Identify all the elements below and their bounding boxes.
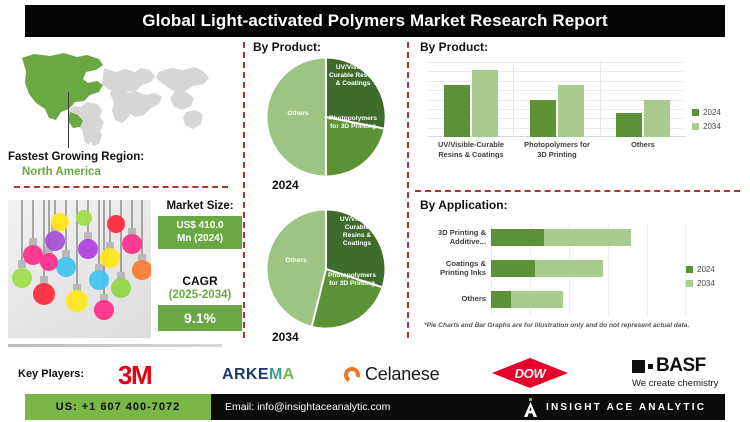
bar-group-photopolymers xyxy=(514,62,600,137)
divider-left-horizontal xyxy=(14,186,228,188)
footer-email[interactable]: Email: info@insightaceanalytic.com xyxy=(211,394,511,420)
legend-item-2024: 2024 xyxy=(692,108,721,117)
cagr-period: (2025-2034) xyxy=(150,289,250,301)
application-category-others: Others xyxy=(419,294,491,304)
app-legend-swatch-2034 xyxy=(686,280,693,287)
arkema-part-3: A xyxy=(283,366,295,383)
fastest-region-label: Fastest Growing Region: xyxy=(8,150,223,164)
legend-item-2034: 2034 xyxy=(692,122,721,131)
pie-chart-2034 xyxy=(265,208,387,330)
key-players-label: Key Players: xyxy=(18,368,84,380)
pie-2024-year: 2024 xyxy=(272,178,299,192)
legend-swatch-2024 xyxy=(692,109,699,116)
bar-group-uv xyxy=(428,62,514,137)
divider-vertical-1 xyxy=(243,42,245,338)
application-bar-coatings xyxy=(491,260,603,277)
celanese-wordmark: Celanese xyxy=(365,364,439,385)
logo-celanese: Celanese xyxy=(344,364,439,385)
footer-phone-text: US: +1 607 400-7072 xyxy=(56,401,181,413)
world-map-icon xyxy=(8,42,230,150)
app-legend-label-2024: 2024 xyxy=(697,265,715,274)
celanese-mark-icon xyxy=(344,367,360,383)
footer-brand-text: INSIGHT ACE ANALYTIC xyxy=(546,402,706,413)
divider-right-horizontal xyxy=(415,190,740,192)
application-seg-others-2034 xyxy=(511,291,563,308)
application-bar-others xyxy=(491,291,563,308)
footer-phone[interactable]: US: +1 607 400-7072 xyxy=(25,394,211,420)
product-bar-legend: 2024 2034 xyxy=(692,108,721,131)
logo-dow: DOW xyxy=(492,358,568,388)
market-size-value: US$ 410.0 xyxy=(176,220,223,232)
application-seg-coatings-2024 xyxy=(491,260,535,277)
application-section-title: By Application: xyxy=(420,198,508,212)
bar-uv-2034 xyxy=(472,70,498,138)
arkema-part-2: M xyxy=(269,366,283,383)
lightbulbs-illustration xyxy=(8,200,151,338)
legend-swatch-2034 xyxy=(692,123,699,130)
legend-label-2034: 2034 xyxy=(703,122,721,131)
market-size-title: Market Size: xyxy=(156,200,244,212)
app-legend-swatch-2024 xyxy=(686,266,693,273)
divider-vertical-2 xyxy=(407,42,409,338)
basf-square-icon xyxy=(632,360,645,373)
basf-wordmark: BASF xyxy=(656,355,706,377)
footer-brand: INSIGHT ACE ANALYTIC xyxy=(511,394,725,420)
bar-category-others: Others xyxy=(600,140,686,160)
application-bar-3d-printing xyxy=(491,229,631,246)
footer-email-text: Email: info@insightaceanalytic.com xyxy=(225,401,390,413)
bar-section-title: By Product: xyxy=(420,40,488,54)
logo-basf: BASF We create chemistry xyxy=(632,355,718,389)
page-title: Global Light-activated Polymers Market R… xyxy=(142,11,607,31)
application-seg-coatings-2034 xyxy=(535,260,603,277)
application-category-3d-printing: 3D Printing & Additive... xyxy=(419,228,491,247)
legend-label-2024: 2024 xyxy=(703,108,721,117)
product-bar-chart xyxy=(428,62,686,137)
cagr-value-box: 9.1% xyxy=(158,305,242,331)
arkema-part-1: ARKE xyxy=(222,366,269,383)
page-header: Global Light-activated Polymers Market R… xyxy=(25,5,725,37)
bar-category-photopolymers: Photopolymers for 3D Printing xyxy=(514,140,600,160)
app-legend-item-2034: 2034 xyxy=(686,279,715,288)
cagr-title: CAGR xyxy=(156,274,244,288)
cagr-value: 9.1% xyxy=(184,310,216,326)
key-players-divider xyxy=(8,344,222,347)
application-bar-legend: 2024 2034 xyxy=(686,265,715,288)
application-row-coatings: Coatings & Printing Inks xyxy=(419,257,685,279)
insightace-logo-icon xyxy=(523,398,538,417)
application-row-others: Others xyxy=(419,288,685,310)
map-pointer-line xyxy=(68,92,69,148)
bar-category-uv: UV/Visible-Curable Resins & Coatings xyxy=(428,140,514,160)
logo-3m: 3M xyxy=(118,360,151,391)
basf-tagline: We create chemistry xyxy=(632,378,718,389)
application-bar-chart: 3D Printing & Additive... Coatings & Pri… xyxy=(419,224,685,316)
dow-wordmark: DOW xyxy=(515,366,546,381)
bar-others-2024 xyxy=(616,113,642,137)
application-category-coatings: Coatings & Printing Inks xyxy=(419,259,491,278)
dow-diamond-icon: DOW xyxy=(492,358,568,388)
bar-uv-2024 xyxy=(444,85,470,138)
bar-photopolymers-2024 xyxy=(530,100,556,138)
app-legend-item-2024: 2024 xyxy=(686,265,715,274)
application-seg-3d-2024 xyxy=(491,229,544,246)
market-size-value-box: US$ 410.0 Mn (2024) xyxy=(158,216,242,249)
application-seg-3d-2034 xyxy=(544,229,631,246)
pie-section-title: By Product: xyxy=(253,40,321,54)
basf-dot-icon xyxy=(648,364,653,369)
basf-mark-row: BASF xyxy=(632,355,718,377)
application-row-3d-printing: 3D Printing & Additive... xyxy=(419,226,685,248)
fastest-region-value: North America xyxy=(22,165,222,179)
product-bar-category-labels: UV/Visible-Curable Resins & Coatings Pho… xyxy=(428,140,686,160)
chart-footnote: *Pie Charts and Bar Graphs are for illus… xyxy=(424,322,734,329)
bar-others-2034 xyxy=(644,100,670,138)
pie-chart-2024 xyxy=(265,56,387,178)
market-size-unit-year: Mn (2024) xyxy=(177,233,223,245)
app-legend-label-2034: 2034 xyxy=(697,279,715,288)
infographic-canvas: Global Light-activated Polymers Market R… xyxy=(0,0,750,422)
bar-group-others xyxy=(601,62,686,137)
bar-photopolymers-2034 xyxy=(558,85,584,138)
logo-arkema: ARKEMA xyxy=(222,366,295,384)
pie-2034-year: 2034 xyxy=(272,330,299,344)
application-seg-others-2024 xyxy=(491,291,511,308)
